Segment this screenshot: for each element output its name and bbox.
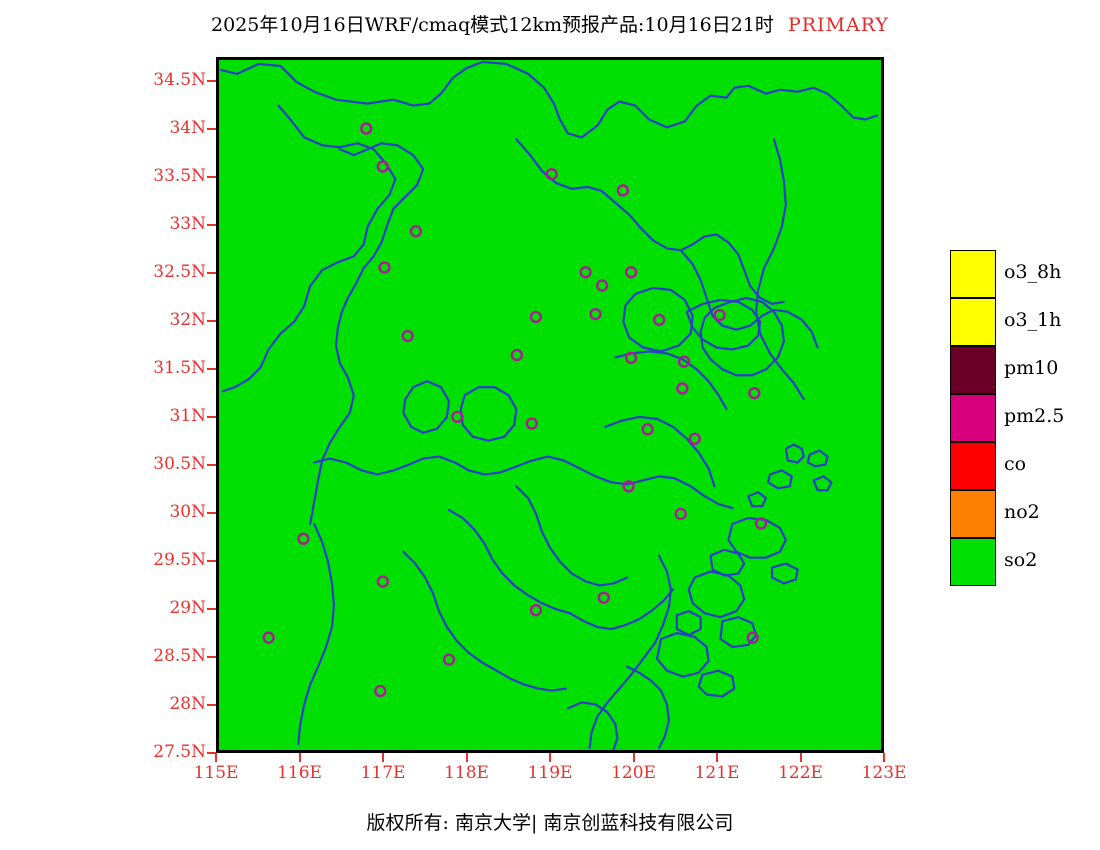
legend-item-label: so2 <box>1004 549 1037 571</box>
x-axis-tick <box>215 753 217 762</box>
x-axis-tick-label: 117E <box>353 763 413 783</box>
station-marker[interactable] <box>444 655 454 665</box>
x-axis-tick <box>883 753 885 762</box>
station-marker[interactable] <box>531 605 541 615</box>
legend-color-swatch <box>950 250 996 298</box>
y-axis-tick-label: 33N <box>0 214 206 234</box>
title-primary-badge: PRIMARY <box>788 14 889 36</box>
legend-item[interactable]: so2 <box>950 538 996 586</box>
x-axis-tick <box>716 753 718 762</box>
y-axis-tick-label: 32.5N <box>0 262 206 282</box>
y-axis-tick <box>207 704 216 706</box>
station-marker[interactable] <box>690 434 700 444</box>
station-marker[interactable] <box>654 315 664 325</box>
x-axis-tick-label: 122E <box>771 763 831 783</box>
legend-color-swatch <box>950 442 996 490</box>
y-axis-tick <box>207 656 216 658</box>
station-marker[interactable] <box>677 383 687 393</box>
x-axis-tick <box>800 753 802 762</box>
station-marker[interactable] <box>626 267 636 277</box>
station-marker[interactable] <box>380 263 390 273</box>
title-main-text: 2025年10月16日WRF/cmaq模式12km预报产品:10月16日21时 <box>211 14 774 36</box>
map-canvas[interactable] <box>216 57 884 753</box>
station-marker[interactable] <box>547 169 557 179</box>
station-marker[interactable] <box>378 162 388 172</box>
station-marker[interactable] <box>527 419 537 429</box>
y-axis-tick <box>207 608 216 610</box>
station-marker[interactable] <box>298 534 308 544</box>
station-marker[interactable] <box>512 350 522 360</box>
legend-item[interactable]: pm2.5 <box>950 394 996 442</box>
province-boundaries <box>221 62 877 750</box>
station-marker[interactable] <box>715 310 725 320</box>
y-axis-tick-label: 29N <box>0 598 206 618</box>
x-axis-tick-label: 119E <box>520 763 580 783</box>
legend-item-label: no2 <box>1004 501 1040 523</box>
legend-item[interactable]: no2 <box>950 490 996 538</box>
copyright-footer: 版权所有: 南京大学| 南京创蓝科技有限公司 <box>0 808 1100 835</box>
legend-item-label: o3_8h <box>1004 261 1061 283</box>
y-axis-tick-label: 33.5N <box>0 166 206 186</box>
station-marker[interactable] <box>591 309 601 319</box>
x-axis-tick-label: 118E <box>437 763 497 783</box>
legend-color-swatch <box>950 394 996 442</box>
forecast-map-page: 2025年10月16日WRF/cmaq模式12km预报产品:10月16日21时P… <box>0 0 1100 850</box>
legend-color-swatch <box>950 346 996 394</box>
y-axis-tick <box>207 272 216 274</box>
y-axis-tick <box>207 80 216 82</box>
station-marker[interactable] <box>531 312 541 322</box>
station-marker[interactable] <box>599 593 609 603</box>
y-axis-tick <box>207 128 216 130</box>
y-axis-tick <box>207 224 216 226</box>
y-axis-tick <box>207 512 216 514</box>
y-axis-tick <box>207 368 216 370</box>
legend-item[interactable]: pm10 <box>950 346 996 394</box>
y-axis-tick-label: 34.5N <box>0 70 206 90</box>
station-marker[interactable] <box>643 424 653 434</box>
y-axis-tick-label: 27.5N <box>0 742 206 762</box>
legend-item[interactable]: co <box>950 442 996 490</box>
station-marker[interactable] <box>361 124 371 134</box>
y-axis-tick-label: 31N <box>0 406 206 426</box>
station-marker[interactable] <box>749 388 759 398</box>
x-axis-tick-label: 120E <box>604 763 664 783</box>
page-title: 2025年10月16日WRF/cmaq模式12km预报产品:10月16日21时P… <box>0 10 1100 37</box>
y-axis-tick-label: 28.5N <box>0 646 206 666</box>
x-axis-tick <box>633 753 635 762</box>
y-axis-tick-label: 28N <box>0 694 206 714</box>
station-marker[interactable] <box>581 267 591 277</box>
x-axis-tick <box>466 753 468 762</box>
legend-item-label: o3_1h <box>1004 309 1061 331</box>
y-axis-tick <box>207 464 216 466</box>
y-axis-tick <box>207 176 216 178</box>
legend-item-label: pm10 <box>1004 357 1058 379</box>
y-axis-tick <box>207 320 216 322</box>
x-axis-tick <box>382 753 384 762</box>
station-marker[interactable] <box>411 226 421 236</box>
x-axis-tick <box>299 753 301 762</box>
y-axis-tick-label: 32N <box>0 310 206 330</box>
x-axis-tick-label: 116E <box>270 763 330 783</box>
station-marker[interactable] <box>676 509 686 519</box>
station-marker[interactable] <box>597 281 607 291</box>
y-axis-tick-label: 30.5N <box>0 454 206 474</box>
station-marker[interactable] <box>403 331 413 341</box>
legend-color-swatch <box>950 298 996 346</box>
map-vector-layer <box>219 60 881 750</box>
station-marker[interactable] <box>618 185 628 195</box>
station-marker[interactable] <box>378 577 388 587</box>
legend-color-swatch <box>950 538 996 586</box>
x-axis-tick-label: 121E <box>687 763 747 783</box>
legend-item-label: co <box>1004 453 1026 475</box>
legend-item[interactable]: o3_1h <box>950 298 996 346</box>
x-axis-tick-label: 115E <box>186 763 246 783</box>
x-axis-tick <box>549 753 551 762</box>
station-markers <box>264 124 766 696</box>
y-axis-tick-label: 30N <box>0 502 206 522</box>
pollutant-legend: o3_8ho3_1hpm10pm2.5cono2so2 <box>950 250 996 586</box>
legend-color-swatch <box>950 490 996 538</box>
y-axis-tick <box>207 416 216 418</box>
x-axis-tick-label: 123E <box>854 763 914 783</box>
y-axis-tick-label: 34N <box>0 118 206 138</box>
legend-item-label: pm2.5 <box>1004 405 1064 427</box>
y-axis-tick-label: 31.5N <box>0 358 206 378</box>
legend-item[interactable]: o3_8h <box>950 250 996 298</box>
station-marker[interactable] <box>264 633 274 643</box>
y-axis-tick <box>207 560 216 562</box>
y-axis-tick-label: 29.5N <box>0 550 206 570</box>
station-marker[interactable] <box>375 686 385 696</box>
